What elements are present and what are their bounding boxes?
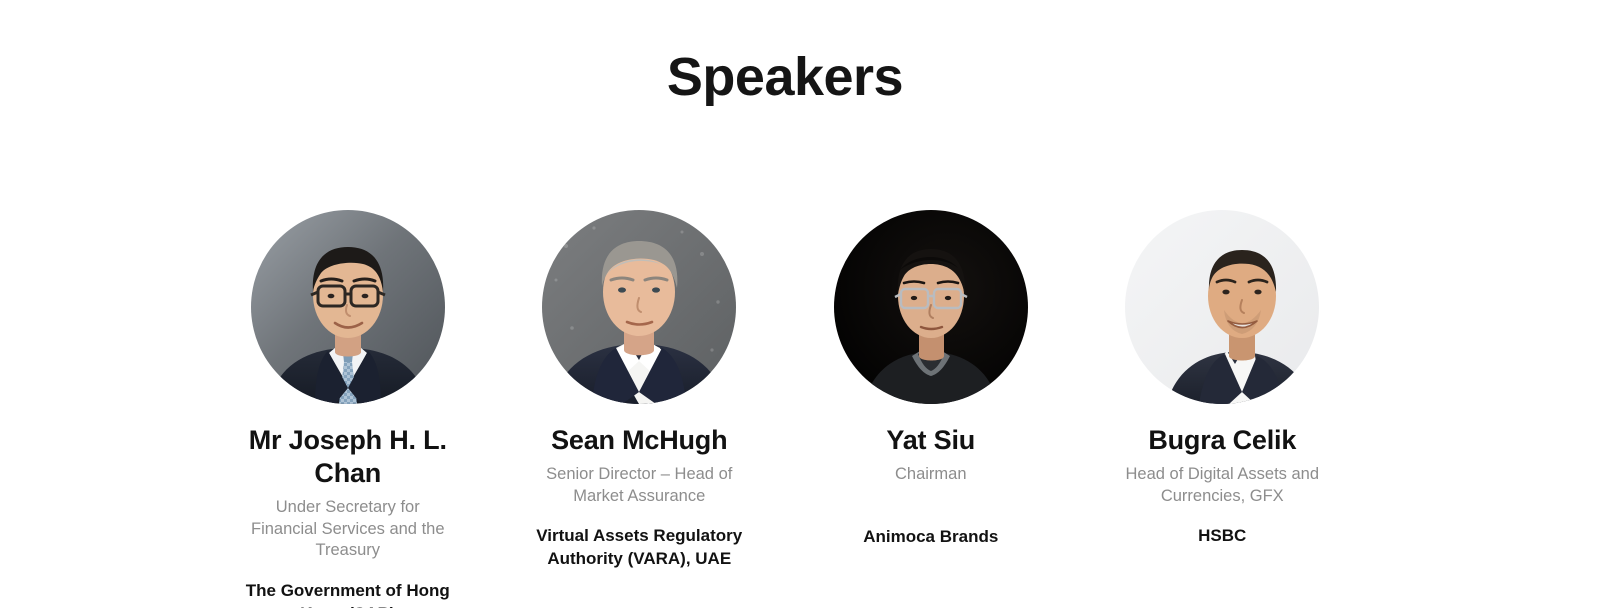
speaker-role: Chairman (826, 464, 1036, 486)
speaker-card[interactable]: Mr Joseph H. L. Chan Under Secretary for… (202, 210, 494, 608)
portrait-joseph-chan (251, 210, 445, 404)
speaker-company: HSBC (1110, 525, 1335, 548)
speaker-role: Senior Director – Head of Market Assuran… (534, 464, 744, 508)
speaker-company: Virtual Assets Regulatory Authority (VAR… (527, 525, 752, 571)
speaker-card[interactable]: Bugra Celik Head of Digital Assets and C… (1077, 210, 1369, 608)
speaker-name: Yat Siu (798, 424, 1063, 457)
speaker-company: The Government of Hong Kong (SAR) (235, 580, 460, 608)
speaker-card[interactable]: Yat Siu Chairman Animoca Brands (785, 210, 1077, 608)
speaker-role: Head of Digital Assets and Currencies, G… (1117, 464, 1327, 508)
speaker-name: Sean McHugh (507, 424, 772, 457)
portrait-sean-mchugh (542, 210, 736, 404)
speaker-name: Mr Joseph H. L. Chan (215, 424, 480, 490)
speakers-grid: Mr Joseph H. L. Chan Under Secretary for… (202, 210, 1368, 608)
page-title: Speakers (0, 48, 1570, 107)
speaker-name: Bugra Celik (1090, 424, 1355, 457)
speaker-card[interactable]: Sean McHugh Senior Director – Head of Ma… (494, 210, 786, 608)
portrait-bugra-celik (1125, 210, 1319, 404)
portrait-yat-siu (834, 210, 1028, 404)
speaker-company: Animoca Brands (818, 526, 1043, 549)
speakers-page: Speakers (0, 0, 1600, 608)
speaker-role: Under Secretary for Financial Services a… (243, 497, 453, 562)
